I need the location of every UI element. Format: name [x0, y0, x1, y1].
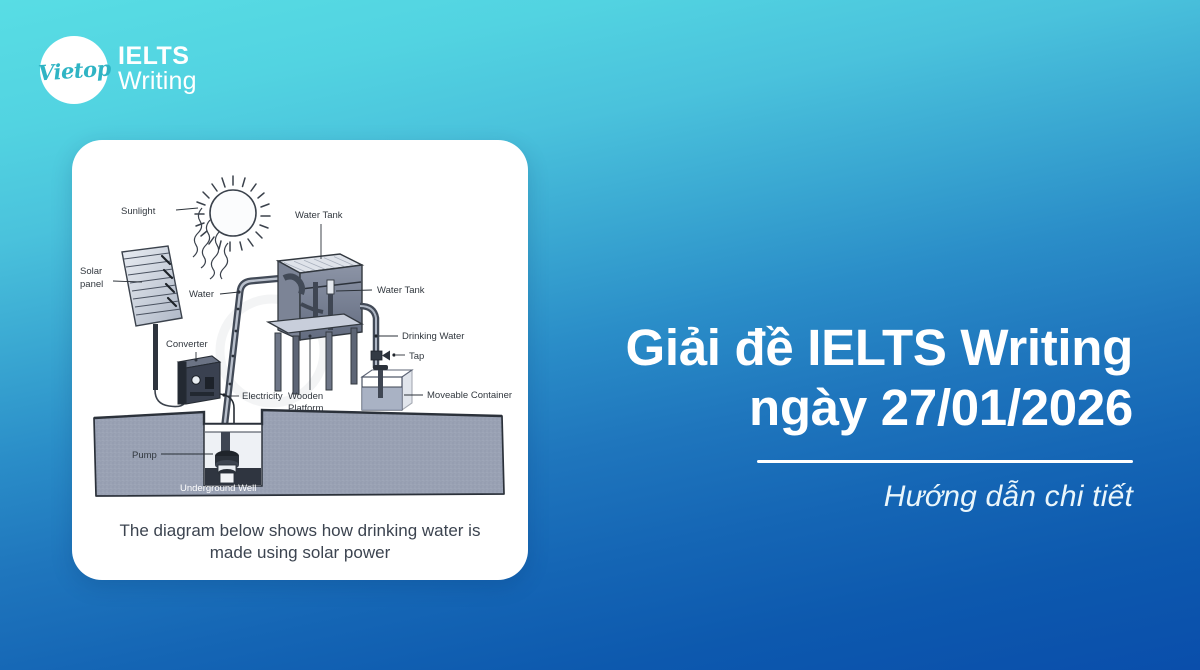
label-underground-well: Underground Well — [180, 483, 256, 494]
title-divider — [757, 460, 1133, 463]
label-converter: Converter — [166, 339, 208, 350]
page-title-line2: ngày 27/01/2026 — [613, 378, 1133, 438]
diagram-caption: The diagram below shows how drinking wat… — [98, 520, 502, 565]
poster-canvas: Vietop IELTS Writing — [0, 0, 1200, 670]
label-sunlight: Sunlight — [121, 206, 156, 217]
leader-dot-platform — [309, 335, 312, 338]
headline-block: Giải đề IELTS Writing ngày 27/01/2026 Hư… — [613, 318, 1133, 514]
leader-water — [220, 292, 239, 294]
label-tap: Tap — [409, 351, 424, 362]
converter-icon — [178, 356, 220, 404]
label-solar-panel-line2: panel — [80, 279, 103, 290]
diagram-card: Sunlight — [72, 140, 528, 580]
label-water: Water — [189, 289, 214, 300]
vietop-wordmark: Vietop — [37, 55, 111, 85]
label-electricity: Electricity — [242, 391, 283, 402]
brand-line-ielts: IELTS — [118, 44, 197, 70]
label-pump: Pump — [132, 450, 157, 461]
leader-dot-converter — [195, 359, 198, 362]
vietop-circle-logo-icon: Vietop — [40, 36, 108, 104]
leader-dot-water — [237, 290, 240, 293]
solar-panel-icon — [122, 246, 185, 407]
label-wooden-platform-line1: Wooden — [288, 391, 323, 402]
tap-icon — [371, 351, 396, 361]
leader-sunlight — [176, 208, 198, 210]
brand-logo[interactable]: Vietop IELTS Writing — [40, 36, 197, 104]
diagram-illustration: Sunlight — [72, 146, 528, 518]
moveable-container-icon — [362, 365, 412, 410]
label-moveable-container: Moveable Container — [427, 390, 512, 401]
label-water-tank-side: Water Tank — [377, 285, 425, 296]
brand-wordmark: IELTS Writing — [118, 44, 197, 97]
label-water-tank-top: Water Tank — [295, 210, 343, 221]
label-drinking-water: Drinking Water — [402, 331, 464, 342]
brand-line-writing: Writing — [118, 69, 197, 95]
sun-icon — [195, 176, 270, 251]
label-solar-panel-line1: Solar — [80, 266, 102, 277]
page-title-line1: Giải đề IELTS Writing — [613, 318, 1133, 378]
page-subtitle: Hướng dẫn chi tiết — [613, 480, 1133, 514]
